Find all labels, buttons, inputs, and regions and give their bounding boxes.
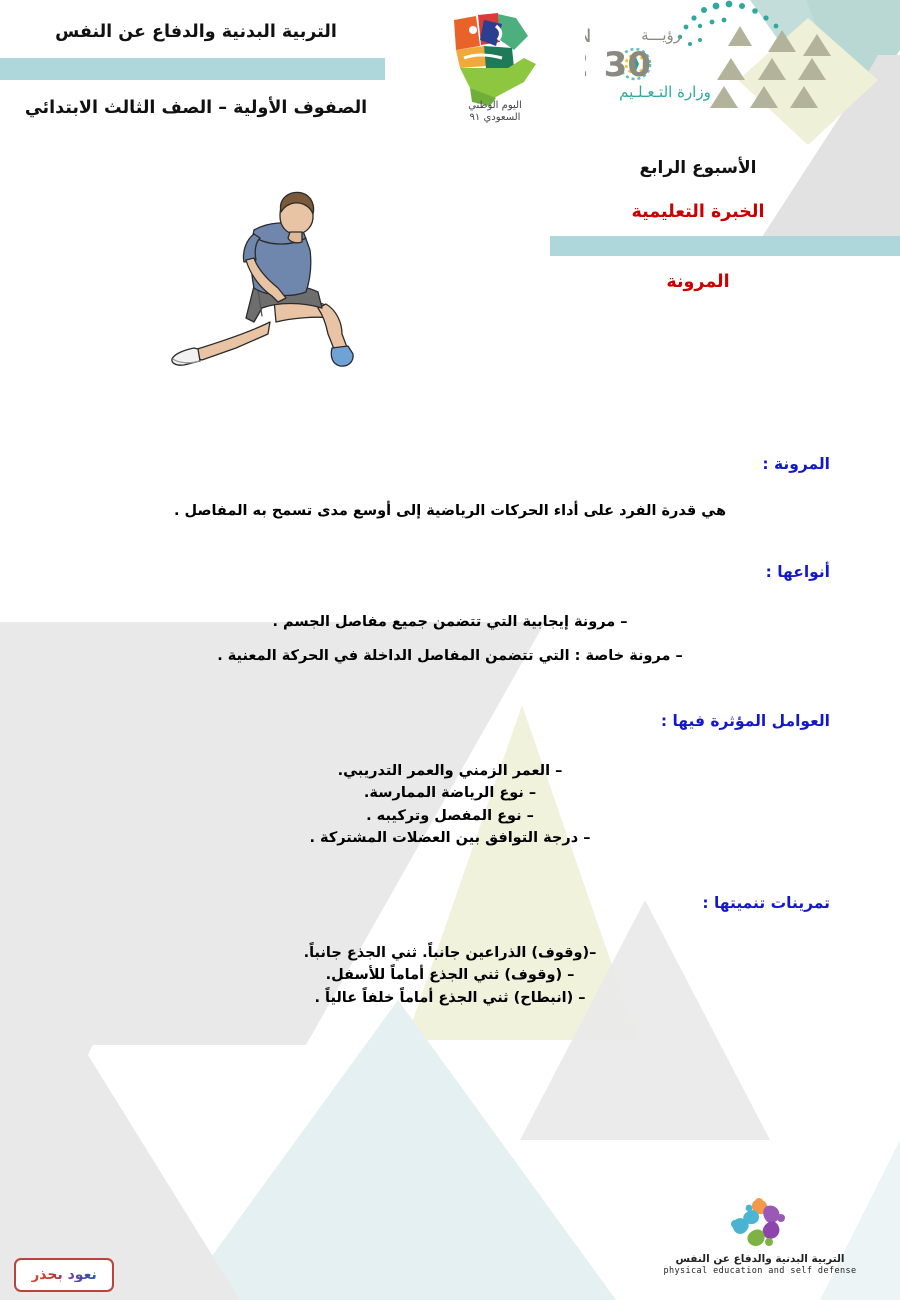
definition-line: هي قدرة الفرد على أداء الحركات الرياضية … [70,503,830,519]
week-title: الأسبوع الرابع [548,158,848,178]
badge-label: نعود بحذر [31,1268,97,1282]
list-item: – مرونة إيجابية التي تتضمن جميع مفاصل ال… [70,611,830,633]
people-circle-icon [723,1196,797,1250]
section-heading: المرونة : [70,455,830,473]
vision-2030-logo: VISION رؤيـــة 2 30 وزارة التـعـلـيم [585,4,745,104]
section-heading: أنواعها : [70,563,830,581]
section-exercises: تمرينات تنميتها : –(وقوف) الذراعين جانبا… [70,894,830,1009]
list-item: – (وقوف) ثني الجذع أماماً للأسفل. [70,964,830,986]
section-factors: العوامل المؤثرة فيها : – العمر الزمني وا… [70,712,830,850]
section-heading: تمرينات تنميتها : [70,894,830,912]
footer-arabic-label: التربية البدنية والدفاع عن النفس [660,1253,860,1265]
list-item: – (انبطاح) ثني الجذع أماماً خلفاً عالياً… [70,987,830,1009]
lesson-content: المرونة : هي قدرة الفرد على أداء الحركات… [70,455,830,1009]
svg-text:30: 30 [604,45,651,85]
topic-title: المرونة [548,272,848,292]
return-with-caution-badge: نعود بحذر [14,1258,114,1292]
grade-line: الصفوف الأولية – الصف الثالث الابتدائي [0,98,392,118]
lesson-page: التربية البدنية والدفاع عن النفس الصفوف … [0,0,900,1300]
educational-experience-title: الخبرة التعليمية [548,202,848,222]
list-item: – العمر الزمني والعمر التدريبي. [70,760,830,782]
list-item: – نوع الرياضة الممارسة. [70,782,830,804]
svg-text:2: 2 [585,45,589,85]
list-item: – مرونة خاصة : التي تتضمن المفاصل الداخل… [70,645,830,667]
list-item: – درجة التوافق بين العضلات المشتركة . [70,827,830,849]
section-body: هي قدرة الفرد على أداء الحركات الرياضية … [70,503,830,519]
section-definition: المرونة : هي قدرة الفرد على أداء الحركات… [70,455,830,519]
section-heading: العوامل المؤثرة فيها : [70,712,830,730]
header-teal-band-left [0,58,385,80]
svg-text:السعودي ٩١: السعودي ٩١ [470,112,521,123]
list-item: –(وقوف) الذراعين جانباً. ثني الجذع جانبا… [70,942,830,964]
bottom-pale-blue-triangle [180,1000,616,1300]
section-types: أنواعها : – مرونة إيجابية التي تتضمن جمي… [70,563,830,668]
section-body: – العمر الزمني والعمر التدريبي. – نوع ال… [70,760,830,850]
footer-english-label: physical education and self defense [660,1266,860,1276]
top-right-teal-triangle [806,0,900,120]
lunge-stretch-athlete-illustration [150,182,390,377]
bottom-left-grey-triangle [0,1010,240,1300]
svg-text:اليوم الوطني: اليوم الوطني [468,100,522,111]
section-body: – مرونة إيجابية التي تتضمن جميع مفاصل ال… [70,611,830,668]
subject-title: التربية البدنية والدفاع عن النفس [0,22,392,42]
list-item: – نوع المفصل وتركيبه . [70,805,830,827]
svg-text:رؤيـــة: رؤيـــة [641,26,681,44]
svg-text:وزارة التـعـلـيم: وزارة التـعـلـيم [619,83,711,101]
svg-text:VISION: VISION [585,25,593,47]
footer-brand: التربية البدنية والدفاع عن النفس physica… [660,1196,860,1292]
header-teal-band-right [550,236,900,256]
section-body: –(وقوف) الذراعين جانباً. ثني الجذع جانبا… [70,942,830,1009]
cream-diamond [738,18,878,145]
saudi-national-day-logo: اليوم الوطني السعودي ٩١ [440,6,550,128]
